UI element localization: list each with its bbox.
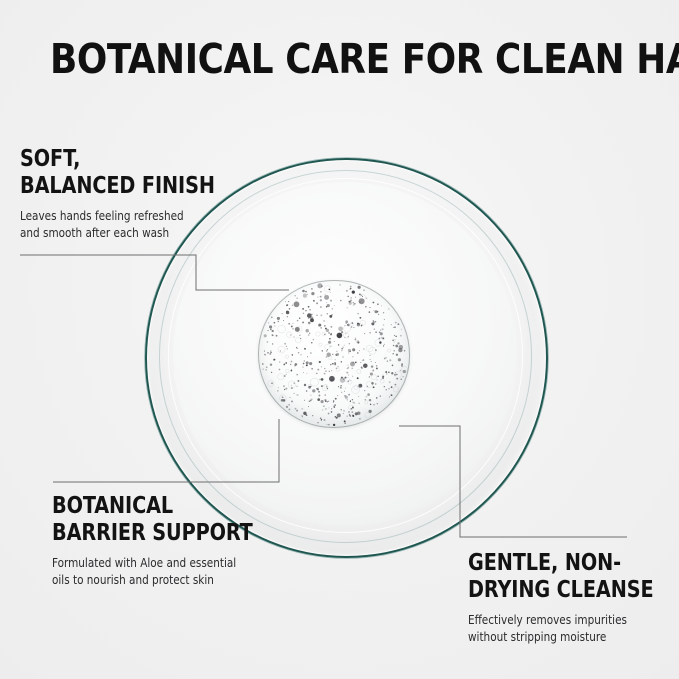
callout-body: Effectively removes impurities without s… [468, 611, 679, 645]
callout-heading: GENTLE, NON- DRYING CLEANSE [468, 550, 679, 603]
callout-botanical-barrier-support: BOTANICAL BARRIER SUPPORT Formulated wit… [52, 493, 312, 589]
infographic-canvas: BOTANICAL CARE FOR CLEAN HANDS SOFT, BAL… [0, 0, 679, 679]
leader-line-botanical [53, 419, 279, 482]
callout-soft-balanced-finish: SOFT, BALANCED FINISH Leaves hands feeli… [20, 146, 270, 242]
callout-heading: SOFT, BALANCED FINISH [20, 146, 253, 199]
callout-gentle-non-drying-cleanse: GENTLE, NON- DRYING CLEANSE Effectively … [468, 550, 679, 646]
callout-heading: BOTANICAL BARRIER SUPPORT [52, 493, 294, 546]
callout-body: Formulated with Aloe and essential oils … [52, 554, 294, 588]
callout-body: Leaves hands feeling refreshed and smoot… [20, 207, 253, 241]
leader-line-soft [20, 255, 289, 290]
leader-line-gentle [399, 426, 627, 537]
